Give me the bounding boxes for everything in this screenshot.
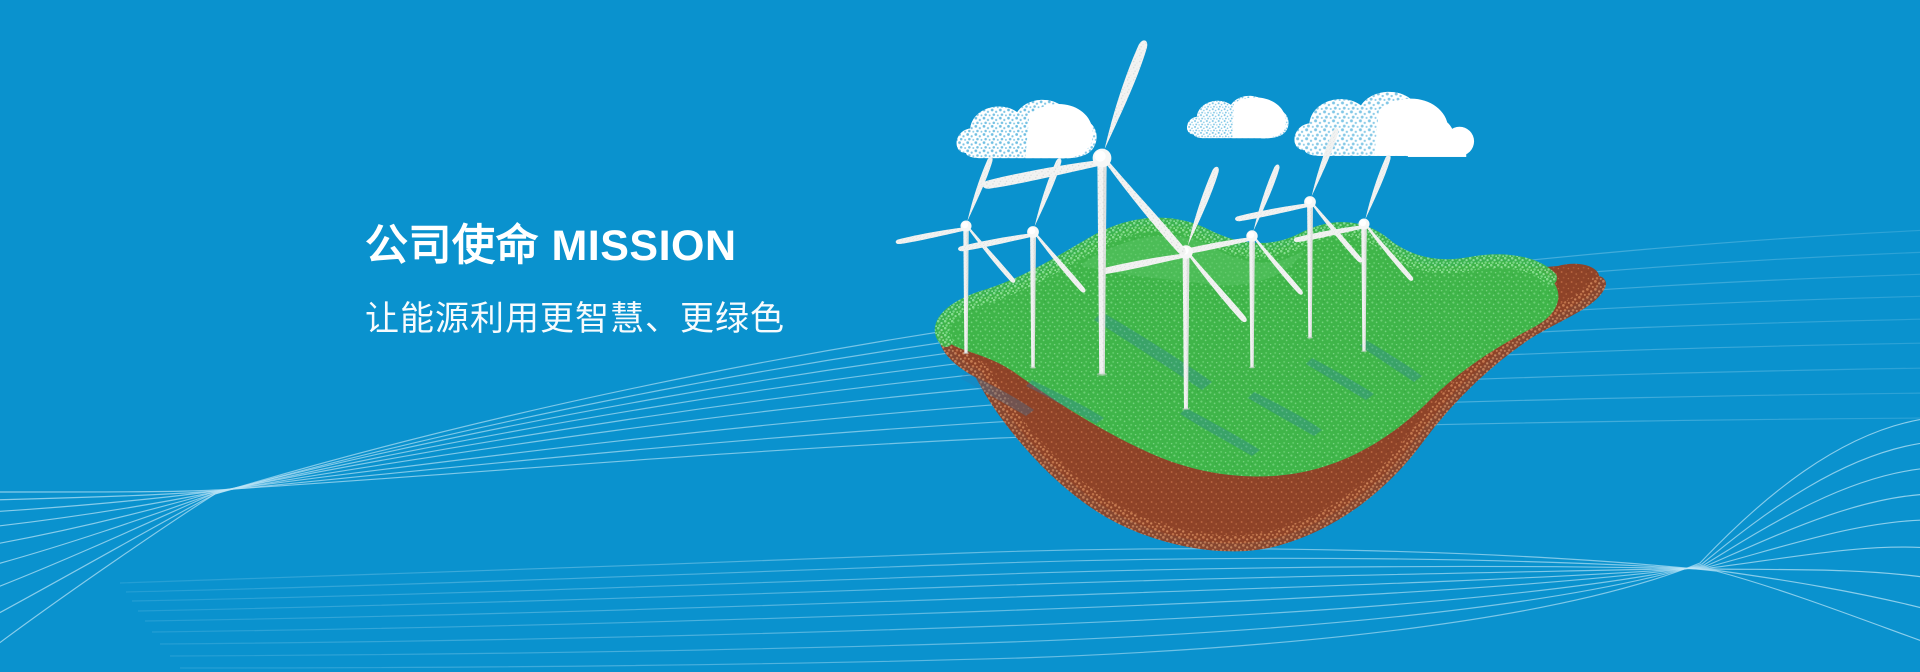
clouds bbox=[957, 92, 1474, 159]
page-title: 公司使命 MISSION bbox=[365, 222, 785, 271]
cloud-left bbox=[957, 100, 1097, 159]
mission-banner: 公司使命 MISSION 让能源利用更智慧、更绿色 bbox=[0, 0, 1920, 672]
floating-island bbox=[942, 225, 1600, 544]
page-subtitle: 让能源利用更智慧、更绿色 bbox=[365, 299, 785, 340]
cloud-right bbox=[1294, 92, 1474, 157]
floating-island-wind-farm bbox=[930, 40, 1670, 600]
cloud-mid bbox=[1187, 96, 1289, 138]
mission-text-block: 公司使命 MISSION 让能源利用更智慧、更绿色 bbox=[365, 222, 785, 340]
